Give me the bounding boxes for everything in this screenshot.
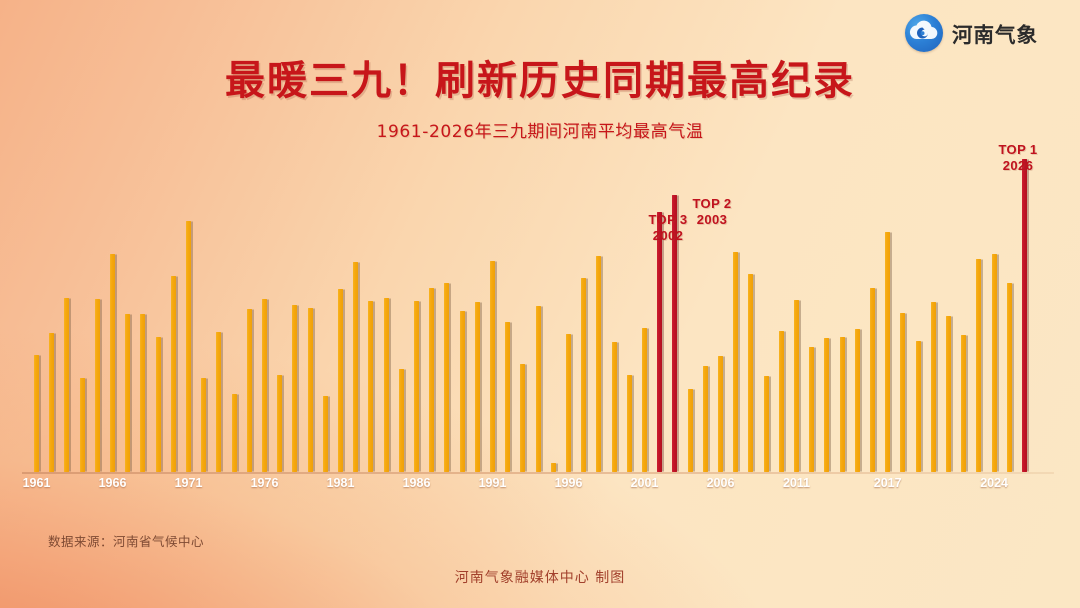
bar-1985	[399, 369, 404, 472]
top3-label-year: 2002	[648, 228, 687, 244]
x-tick-1996: 1996	[555, 476, 583, 490]
top3-label-rank: TOP 3	[648, 212, 687, 228]
bar-1978	[292, 305, 297, 472]
bar-2022	[961, 335, 966, 472]
bar-1988	[444, 283, 449, 472]
bar-1992	[505, 322, 510, 472]
bar-1991	[490, 261, 495, 472]
bar-2015	[855, 329, 860, 472]
bar-1998	[596, 256, 601, 472]
bar-2007	[733, 252, 738, 472]
top1-label: TOP 12026	[998, 142, 1037, 174]
bar-2016	[870, 288, 875, 472]
bar-1983	[368, 301, 373, 472]
bar-2026	[1022, 159, 1027, 472]
bar-1971	[186, 221, 191, 472]
bar-2024	[992, 254, 997, 472]
bar-2001	[642, 328, 647, 472]
x-tick-1986: 1986	[403, 476, 431, 490]
top2-label-rank: TOP 2	[692, 196, 731, 212]
bar-chart	[22, 150, 1058, 472]
top1-label-year: 2026	[998, 158, 1037, 174]
x-tick-1966: 1966	[99, 476, 127, 490]
bar-2025	[1007, 283, 1012, 472]
brand-logo: 河南气象	[905, 14, 1038, 52]
bar-1994	[536, 306, 541, 472]
bar-1995	[551, 463, 556, 472]
x-tick-2006: 2006	[707, 476, 735, 490]
bar-1966	[110, 254, 115, 472]
bar-2021	[946, 316, 951, 472]
x-tick-1971: 1971	[175, 476, 203, 490]
credit-note: 河南气象融媒体中心 制图	[0, 567, 1080, 587]
x-axis-line	[22, 472, 1054, 474]
top2-label: TOP 22003	[692, 196, 731, 228]
x-tick-2017: 2017	[874, 476, 902, 490]
bar-1970	[171, 276, 176, 472]
bar-2000	[627, 375, 632, 472]
bar-1972	[201, 378, 206, 472]
bar-1968	[140, 314, 145, 472]
logo-text: 河南气象	[952, 18, 1038, 48]
x-tick-1961: 1961	[23, 476, 51, 490]
bar-1999	[612, 342, 617, 472]
bar-1977	[277, 375, 282, 472]
bar-1961	[34, 355, 39, 472]
bar-1996	[566, 334, 571, 472]
bar-2008	[748, 274, 753, 472]
x-tick-1991: 1991	[479, 476, 507, 490]
bar-1962	[49, 333, 54, 472]
bar-1986	[414, 301, 419, 472]
bar-1964	[80, 378, 85, 472]
bar-1982	[353, 262, 358, 472]
bar-2014	[840, 337, 845, 472]
bar-2009	[764, 376, 769, 472]
infographic-root: 河南气象 最暖三九！刷新历史同期最高纪录 1961-2026年三九期间河南平均最…	[0, 0, 1080, 608]
bar-2005	[703, 366, 708, 472]
bar-2002	[657, 212, 662, 472]
bar-2023	[976, 259, 981, 472]
bar-1980	[323, 396, 328, 472]
x-tick-2011: 2011	[783, 476, 810, 490]
bar-2004	[688, 389, 693, 472]
bar-1990	[475, 302, 480, 472]
x-tick-2024: 2024	[980, 476, 1008, 490]
bar-2019	[916, 341, 921, 472]
cloud-swirl-icon	[905, 14, 943, 52]
bar-1965	[95, 299, 100, 472]
bar-1979	[308, 308, 313, 472]
bar-1997	[581, 278, 586, 472]
bar-1987	[429, 288, 434, 472]
bar-1993	[520, 364, 525, 472]
bar-2018	[900, 313, 905, 472]
bar-2017	[885, 232, 890, 472]
bar-1981	[338, 289, 343, 472]
x-tick-1981: 1981	[327, 476, 355, 490]
x-tick-1976: 1976	[251, 476, 279, 490]
data-source-note: 数据来源：河南省气候中心	[48, 531, 204, 550]
bar-2010	[779, 331, 784, 472]
page-title: 最暖三九！刷新历史同期最高纪录	[0, 48, 1080, 106]
bar-1984	[384, 298, 389, 472]
bar-1973	[216, 332, 221, 472]
bar-1969	[156, 337, 161, 472]
page-subtitle: 1961-2026年三九期间河南平均最高气温	[0, 117, 1080, 142]
top3-label: TOP 32002	[648, 212, 687, 244]
bar-1974	[232, 394, 237, 472]
top2-label-year: 2003	[692, 212, 731, 228]
top1-label-rank: TOP 1	[998, 142, 1037, 158]
bar-1976	[262, 299, 267, 472]
x-tick-2001: 2001	[631, 476, 659, 490]
bar-2011	[794, 300, 799, 472]
bar-2006	[718, 356, 723, 472]
bar-1989	[460, 311, 465, 472]
bar-2012	[809, 347, 814, 472]
bar-1967	[125, 314, 130, 472]
bar-1963	[64, 298, 69, 472]
bar-2013	[824, 338, 829, 472]
bar-1975	[247, 309, 252, 472]
bar-2020	[931, 302, 936, 472]
